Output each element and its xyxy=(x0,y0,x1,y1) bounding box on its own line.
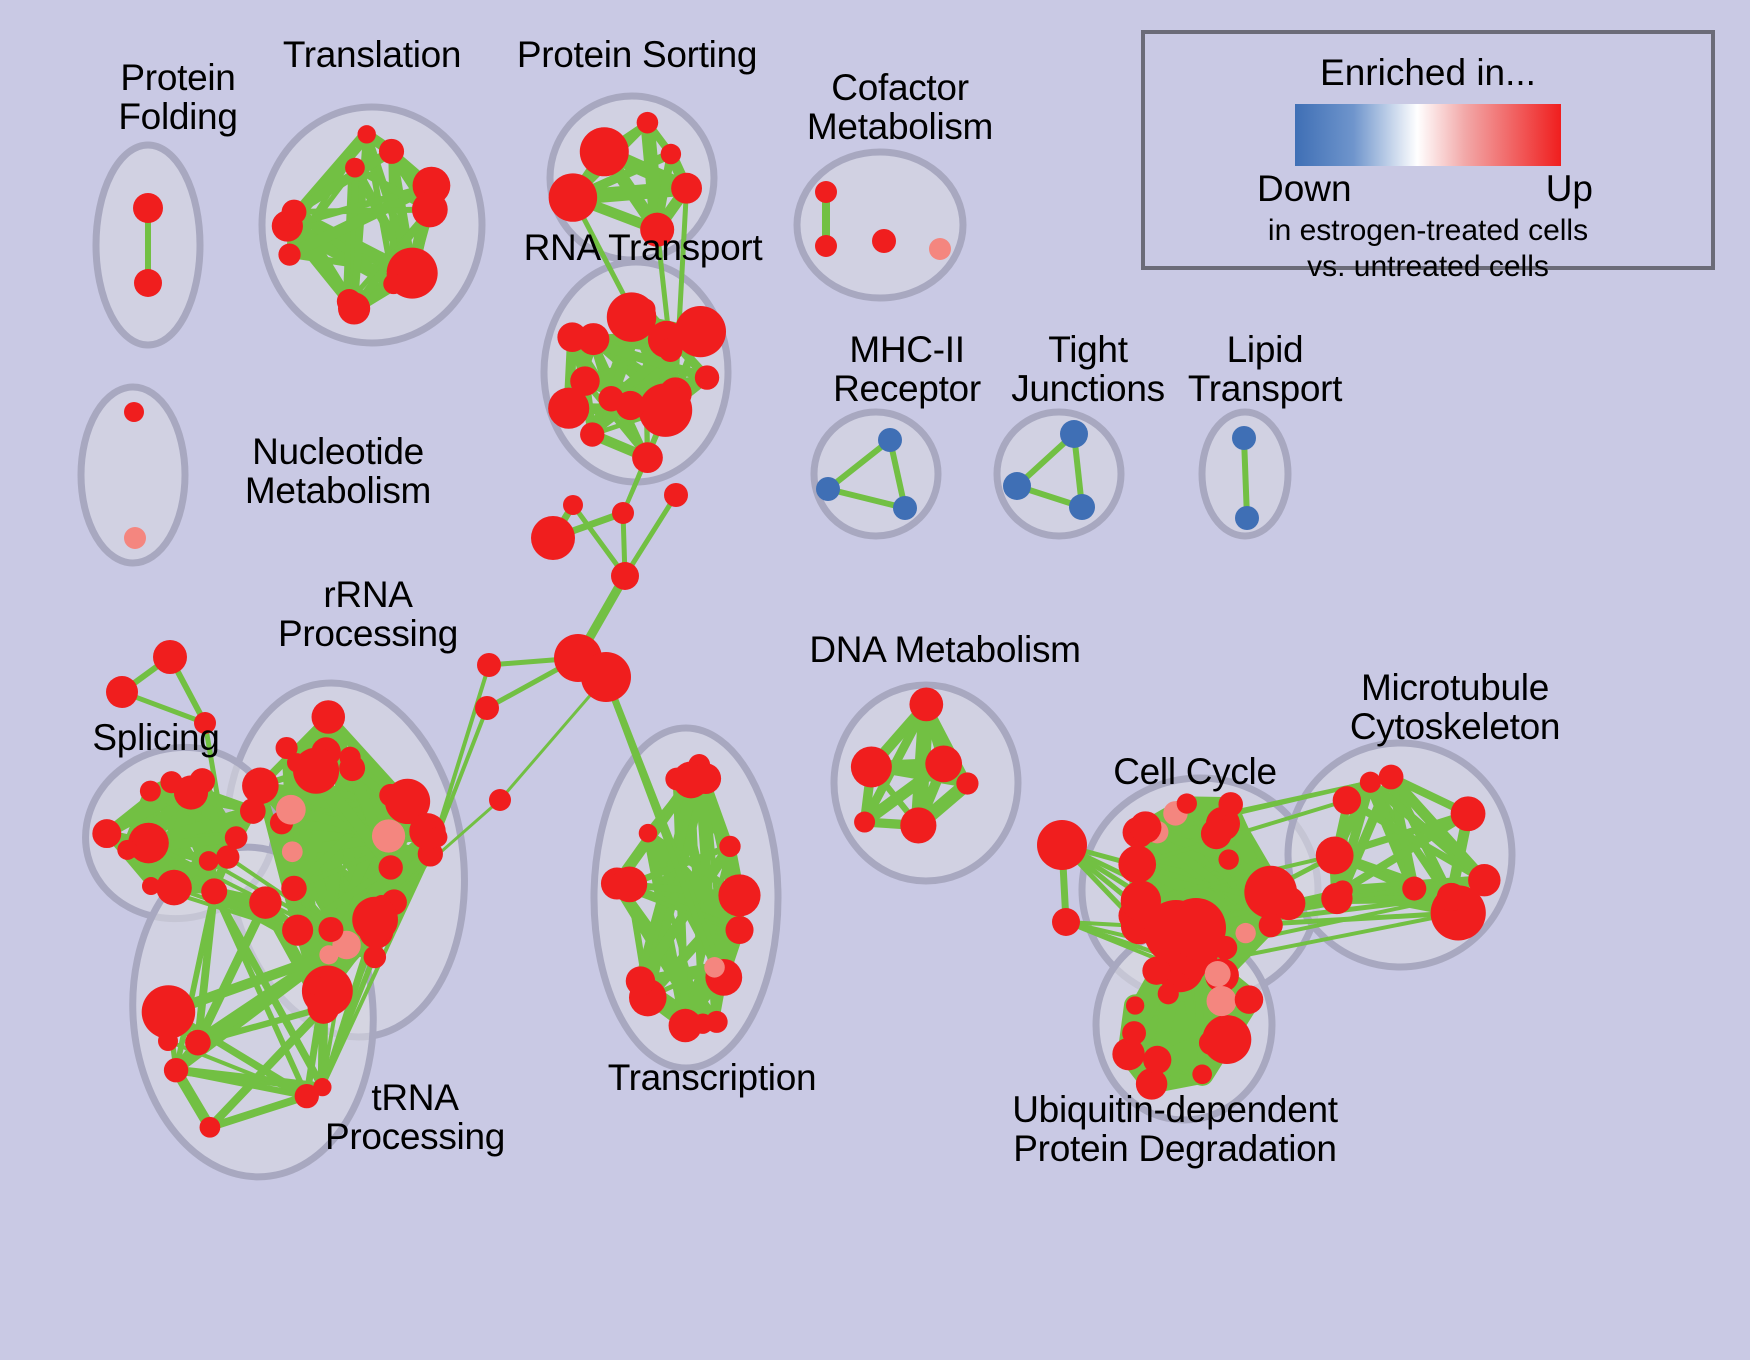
network-node xyxy=(1201,818,1232,849)
network-node xyxy=(909,688,943,722)
network-node xyxy=(142,985,196,1039)
network-node xyxy=(140,781,161,802)
network-node xyxy=(1037,820,1087,870)
cluster-halo-cofactor-metabolism xyxy=(797,152,963,298)
network-node xyxy=(124,402,144,422)
network-node xyxy=(1130,811,1162,843)
network-node xyxy=(124,527,146,549)
network-node xyxy=(194,712,216,734)
network-node xyxy=(282,200,307,225)
network-node xyxy=(581,652,631,702)
network-node xyxy=(1316,837,1354,875)
network-node xyxy=(639,383,693,437)
network-node xyxy=(1122,1021,1146,1045)
network-node xyxy=(695,365,719,389)
network-node xyxy=(364,946,387,969)
network-node xyxy=(225,826,248,849)
network-node xyxy=(164,1058,188,1082)
network-node xyxy=(611,867,647,903)
network-node xyxy=(531,516,575,560)
network-node xyxy=(312,700,345,733)
network-node xyxy=(815,235,837,257)
network-node xyxy=(1402,877,1426,901)
network-node xyxy=(319,945,338,964)
network-node xyxy=(719,836,740,857)
network-edge xyxy=(294,210,430,213)
network-node xyxy=(1166,898,1226,958)
network-node xyxy=(929,238,951,260)
network-node xyxy=(577,323,609,355)
network-node xyxy=(276,737,298,759)
network-node xyxy=(158,1031,178,1051)
legend-panel: Enriched in... Down Up in estrogen-treat… xyxy=(1141,30,1715,270)
network-node xyxy=(725,916,753,944)
network-node xyxy=(282,841,303,862)
network-node xyxy=(1218,849,1238,869)
network-node xyxy=(153,640,187,674)
network-node xyxy=(872,229,896,253)
network-node xyxy=(580,422,604,446)
network-node xyxy=(352,897,398,943)
network-node xyxy=(1177,793,1197,813)
network-node xyxy=(1438,883,1466,911)
cluster-halo-mhc-ii-receptor xyxy=(814,412,938,536)
network-node xyxy=(249,886,281,918)
legend-subtitle-line2: vs. untreated cells xyxy=(1145,250,1711,284)
network-node xyxy=(489,789,511,811)
network-node xyxy=(345,158,365,178)
network-node xyxy=(661,144,681,164)
network-node xyxy=(637,112,659,134)
network-node xyxy=(240,798,266,824)
network-node xyxy=(1451,796,1486,831)
network-node xyxy=(669,1009,702,1042)
network-node xyxy=(626,966,655,995)
network-node xyxy=(338,292,370,324)
network-node xyxy=(1158,983,1179,1004)
network-node xyxy=(1235,506,1259,530)
network-node xyxy=(1060,420,1088,448)
network-node xyxy=(1126,996,1144,1014)
network-node xyxy=(549,173,597,221)
network-node xyxy=(611,562,639,590)
network-node xyxy=(851,746,892,787)
network-node xyxy=(664,483,688,507)
legend-high-label: Up xyxy=(1546,168,1593,210)
network-node xyxy=(282,915,313,946)
network-node xyxy=(1235,985,1264,1014)
network-node xyxy=(1235,923,1255,943)
network-node xyxy=(1052,908,1080,936)
network-node xyxy=(379,855,403,879)
network-node xyxy=(305,975,324,994)
network-node xyxy=(412,192,448,228)
network-node xyxy=(1218,792,1243,817)
network-node xyxy=(900,807,936,843)
legend-title: Enriched in... xyxy=(1145,52,1711,94)
network-node xyxy=(925,746,962,783)
network-node xyxy=(318,917,343,942)
network-node xyxy=(308,992,340,1024)
network-node xyxy=(690,763,721,794)
network-node xyxy=(428,827,448,847)
network-node xyxy=(278,243,300,265)
network-node xyxy=(816,477,840,501)
network-node xyxy=(1003,472,1031,500)
network-node xyxy=(117,840,137,860)
network-node xyxy=(1118,845,1156,883)
network-node xyxy=(477,653,501,677)
network-edge xyxy=(1244,438,1247,518)
network-node xyxy=(281,876,306,901)
network-node xyxy=(640,213,674,247)
network-node xyxy=(570,366,600,396)
network-node xyxy=(201,878,227,904)
legend-low-label: Down xyxy=(1257,168,1352,210)
network-node xyxy=(372,819,405,852)
network-node xyxy=(134,269,162,297)
network-node xyxy=(199,851,219,871)
network-node xyxy=(704,957,725,978)
network-node xyxy=(189,768,215,794)
network-node xyxy=(612,502,634,524)
network-node xyxy=(1360,772,1381,793)
legend-subtitle-line1: in estrogen-treated cells xyxy=(1145,214,1711,248)
network-node xyxy=(142,877,160,895)
network-node xyxy=(379,139,404,164)
enrichment-map-figure: Protein FoldingTranslationProtein Sortin… xyxy=(0,0,1750,1360)
network-node xyxy=(563,495,583,515)
network-node xyxy=(1207,986,1237,1016)
network-node xyxy=(1205,961,1231,987)
network-node xyxy=(133,193,163,223)
network-node xyxy=(293,748,339,794)
network-node xyxy=(675,306,726,357)
network-node xyxy=(295,1084,319,1108)
network-node xyxy=(956,772,978,794)
network-node xyxy=(475,696,499,720)
network-node xyxy=(854,812,875,833)
network-node xyxy=(1468,864,1500,896)
network-node xyxy=(1069,494,1095,520)
network-node xyxy=(671,173,702,204)
network-node xyxy=(276,795,306,825)
network-node xyxy=(1379,765,1404,790)
network-node xyxy=(598,386,623,411)
network-node xyxy=(718,874,760,916)
network-node xyxy=(156,870,192,906)
network-node xyxy=(1259,913,1283,937)
network-node xyxy=(1321,883,1352,914)
network-node xyxy=(357,125,375,143)
network-node xyxy=(815,181,837,203)
network-node xyxy=(92,819,121,848)
network-node xyxy=(1143,1046,1171,1074)
network-node xyxy=(878,428,902,452)
network-node xyxy=(339,755,365,781)
network-node xyxy=(632,442,663,473)
network-node xyxy=(1232,426,1256,450)
network-node xyxy=(580,127,629,176)
network-node xyxy=(185,1030,211,1056)
network-node xyxy=(639,824,658,843)
network-edge xyxy=(625,495,676,576)
network-node xyxy=(1192,1064,1212,1084)
legend-endpoints: Down Up xyxy=(1263,168,1593,212)
network-node xyxy=(1199,1031,1223,1055)
network-node xyxy=(383,274,404,295)
network-node xyxy=(200,1117,221,1138)
network-node xyxy=(893,496,917,520)
network-node xyxy=(106,676,138,708)
legend-color-gradient xyxy=(1295,104,1561,166)
network-node xyxy=(1333,786,1361,814)
network-node xyxy=(242,768,279,805)
